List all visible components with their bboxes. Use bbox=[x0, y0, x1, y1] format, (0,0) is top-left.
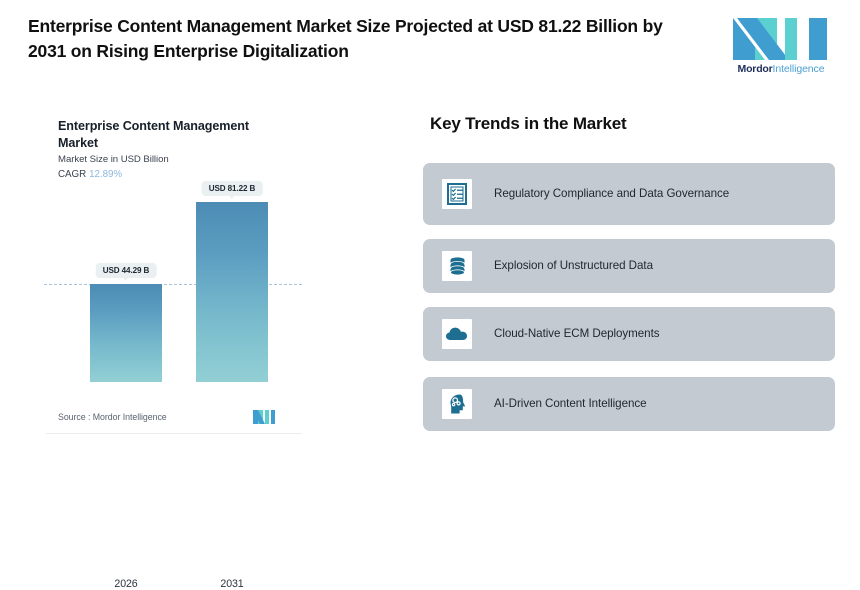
chart-cagr-value: 12.89% bbox=[89, 169, 122, 180]
checklist-icon bbox=[446, 183, 468, 205]
trend-card-unstructured-data[interactable]: Explosion of Unstructured Data bbox=[423, 239, 835, 293]
cloud-icon bbox=[445, 325, 469, 343]
logo-word-secondary: Intelligence bbox=[773, 63, 825, 75]
trend-card-regulatory-compliance[interactable]: Regulatory Compliance and Data Governanc… bbox=[423, 163, 835, 225]
chart-panel-divider bbox=[46, 433, 302, 434]
bar-value-badge: USD 81.22 B bbox=[202, 181, 263, 196]
bar-2031 bbox=[196, 202, 268, 382]
trend-icon-box bbox=[442, 179, 472, 209]
trend-label: Regulatory Compliance and Data Governanc… bbox=[494, 186, 729, 202]
mordor-footer-logo-icon bbox=[252, 409, 276, 425]
trend-label: Explosion of Unstructured Data bbox=[494, 258, 653, 274]
trend-card-ai-content-intelligence[interactable]: AI-Driven Content Intelligence bbox=[423, 377, 835, 431]
chart-subtitle: Market Size in USD Billion bbox=[58, 154, 169, 165]
bar-xlabel-2031: 2031 bbox=[196, 578, 268, 590]
chart-cagr-label: CAGR bbox=[58, 169, 86, 180]
chart-title: Enterprise Content Management Market bbox=[58, 118, 288, 152]
logo-word-primary: Mordor bbox=[738, 63, 773, 75]
key-trends-heading: Key Trends in the Market bbox=[430, 114, 626, 134]
ai-head-icon bbox=[446, 393, 468, 415]
bar-chart-plot-area: USD 44.29 B 2026 USD 81.22 B 2031 bbox=[38, 192, 310, 382]
bar-xlabel-2026: 2026 bbox=[90, 578, 162, 590]
chart-source: Source : Mordor Intelligence bbox=[58, 412, 167, 422]
mordor-intelligence-logo: MordorIntelligence bbox=[727, 16, 835, 78]
trend-icon-box bbox=[442, 251, 472, 281]
mordor-logo-mark bbox=[727, 16, 835, 62]
market-size-chart-panel: Enterprise Content Management Market Mar… bbox=[38, 100, 310, 440]
bar-2026 bbox=[90, 284, 162, 382]
chart-source-value: Mordor Intelligence bbox=[93, 412, 167, 422]
page-header: Enterprise Content Management Market Siz… bbox=[0, 0, 860, 92]
trend-icon-box bbox=[442, 389, 472, 419]
bar-value-badge: USD 44.29 B bbox=[96, 263, 157, 278]
trend-card-cloud-native-ecm[interactable]: Cloud-Native ECM Deployments bbox=[423, 307, 835, 361]
trend-icon-box bbox=[442, 319, 472, 349]
page-title: Enterprise Content Management Market Siz… bbox=[28, 14, 688, 64]
chart-source-label: Source : bbox=[58, 412, 90, 422]
chart-cagr: CAGR12.89% bbox=[58, 169, 122, 180]
logo-wordmark: MordorIntelligence bbox=[727, 63, 835, 75]
trend-label: Cloud-Native ECM Deployments bbox=[494, 326, 659, 342]
database-icon bbox=[447, 256, 468, 277]
trend-label: AI-Driven Content Intelligence bbox=[494, 396, 647, 412]
